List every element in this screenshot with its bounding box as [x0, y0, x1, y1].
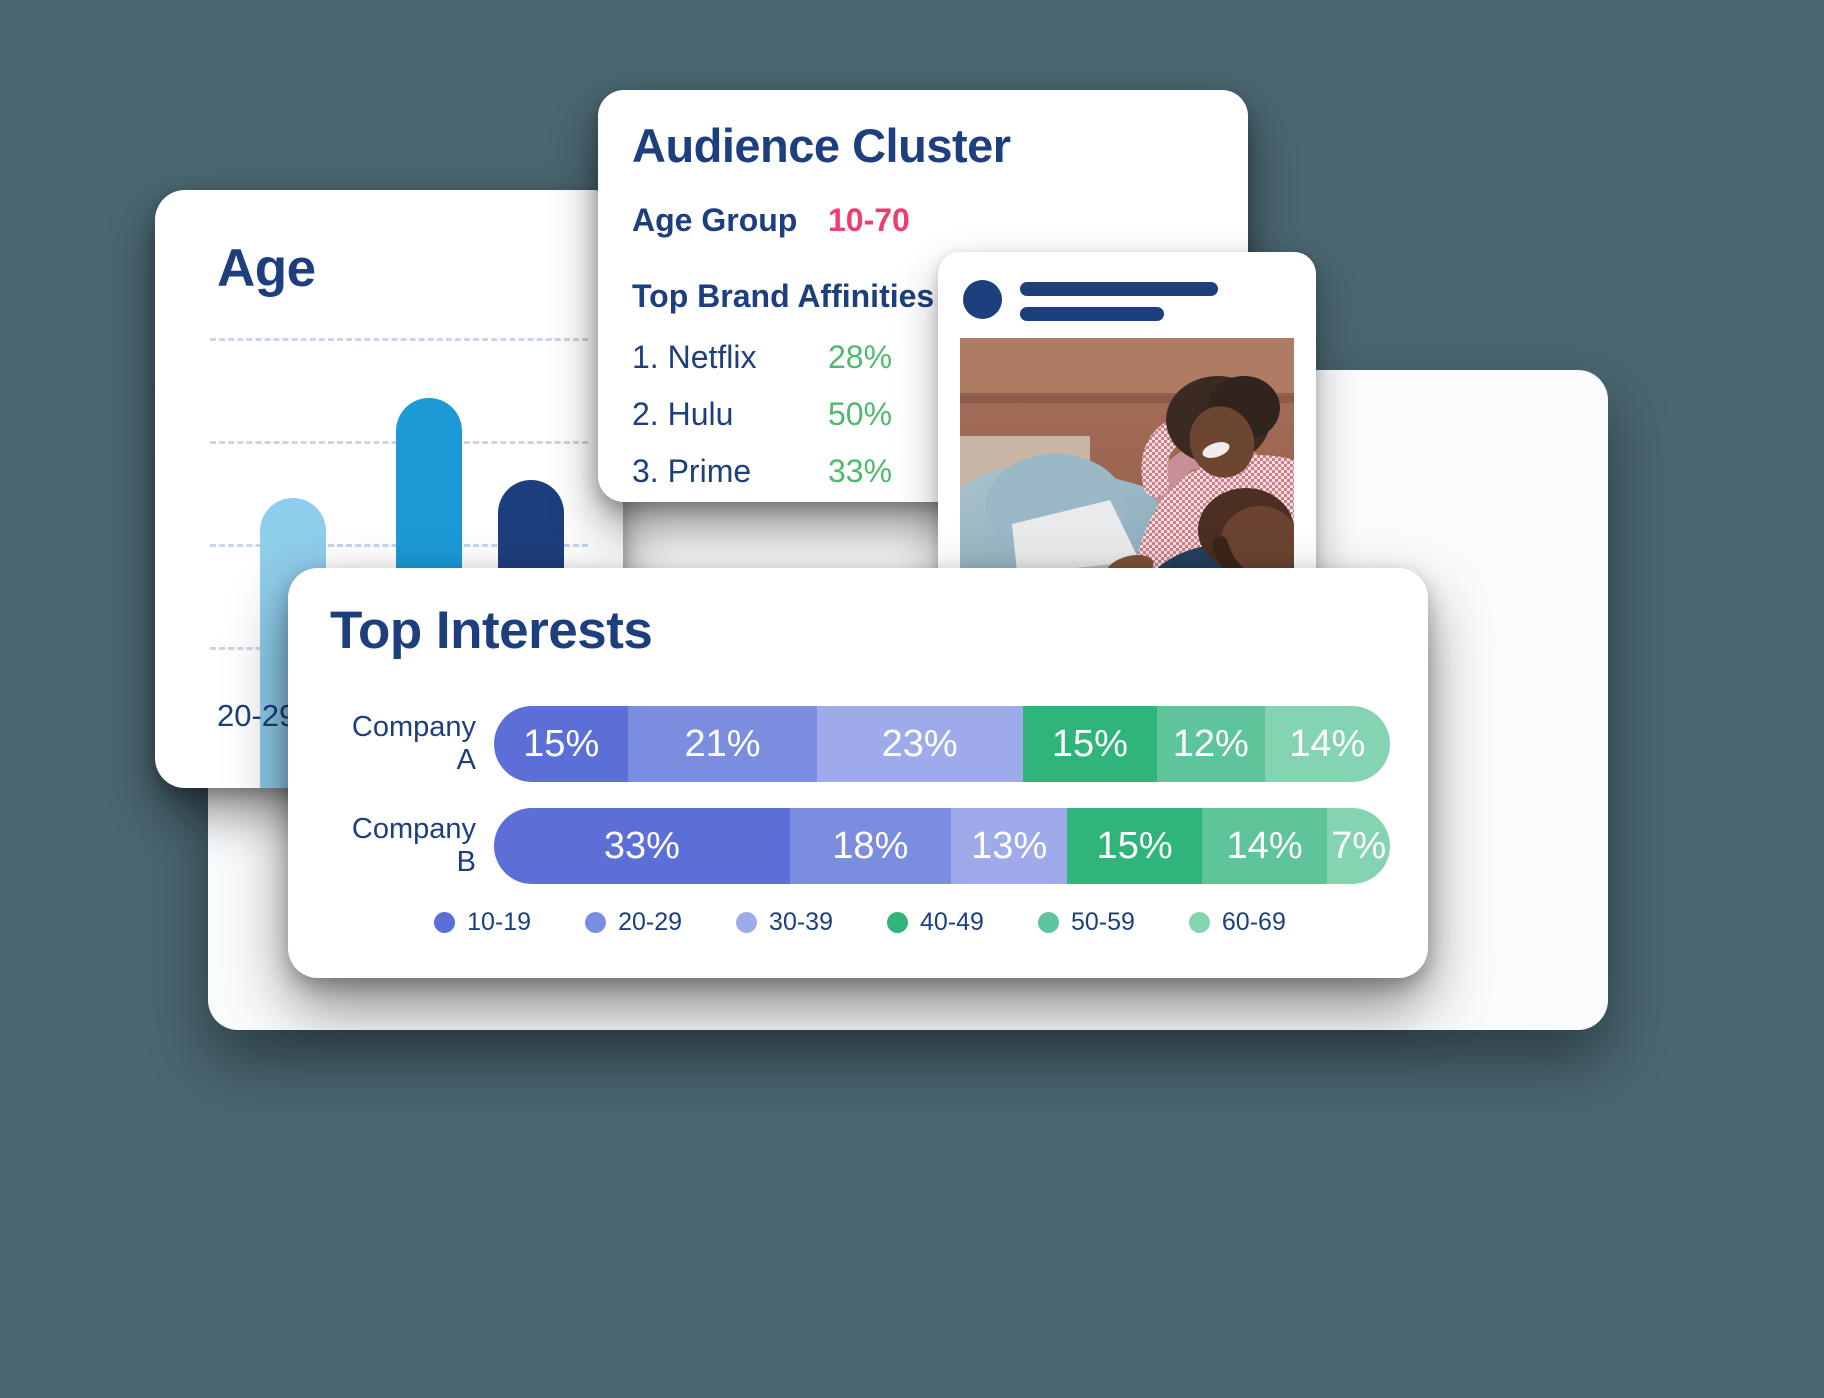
legend-label: 10-19	[467, 908, 531, 937]
legend-item-20-29[interactable]: 20-29	[585, 908, 682, 937]
brand-affinity-row: 3. Prime 33%	[632, 453, 932, 490]
legend-label: 20-29	[618, 908, 682, 937]
audience-cluster-title: Audience Cluster	[632, 118, 1011, 173]
placeholder-text-line-icon	[1020, 282, 1218, 296]
gridline	[210, 338, 588, 341]
brand-percent: 28%	[828, 339, 892, 376]
top-interests-title: Top Interests	[330, 600, 652, 661]
segment-50-59[interactable]: 12%	[1157, 706, 1265, 782]
legend-label: 30-39	[769, 908, 833, 937]
brand-name: 2. Hulu	[632, 396, 828, 433]
age-group-value: 10-70	[828, 202, 910, 239]
legend-item-50-59[interactable]: 50-59	[1038, 908, 1135, 937]
stacked-bar-row-company-a: Company A 15% 21% 23% 15% 12% 14%	[330, 706, 1390, 782]
brand-affinity-row: 2. Hulu 50%	[632, 396, 932, 433]
brand-affinity-row: 1. Netflix 28%	[632, 339, 932, 376]
segment-20-29[interactable]: 18%	[790, 808, 951, 884]
legend-label: 60-69	[1222, 908, 1286, 937]
row-label-company-a: Company A	[330, 711, 494, 777]
brand-name: 3. Prime	[632, 453, 828, 490]
placeholder-text-line-icon	[1020, 307, 1164, 321]
legend-label: 40-49	[920, 908, 984, 937]
segment-10-19[interactable]: 33%	[494, 808, 790, 884]
row-label-company-b: Company B	[330, 813, 494, 879]
segment-30-39[interactable]: 13%	[951, 808, 1067, 884]
brand-percent: 50%	[828, 396, 892, 433]
segment-40-49[interactable]: 15%	[1067, 808, 1201, 884]
stacked-bar-row-company-b: Company B 33% 18% 13% 15% 14% 7%	[330, 808, 1390, 884]
legend-label: 50-59	[1071, 908, 1135, 937]
avatar	[963, 280, 1002, 319]
segment-50-59[interactable]: 14%	[1202, 808, 1327, 884]
age-group-row: Age Group 10-70	[632, 202, 932, 239]
chart-legend: 10-19 20-29 30-39 40-49 50-59 60-69	[330, 908, 1390, 937]
age-axis-tick-label: 20-29	[217, 698, 296, 734]
segment-60-69[interactable]: 7%	[1327, 808, 1390, 884]
age-group-label: Age Group	[632, 202, 828, 239]
dashboard-collage: Age 20-29 Audience Cluster Age Group 10-…	[0, 0, 1824, 1398]
legend-item-40-49[interactable]: 40-49	[887, 908, 984, 937]
top-brand-affinities-heading: Top Brand Affinities	[632, 278, 934, 315]
brand-percent: 33%	[828, 453, 892, 490]
legend-item-30-39[interactable]: 30-39	[736, 908, 833, 937]
segment-60-69[interactable]: 14%	[1265, 706, 1390, 782]
stacked-bar-company-a: 15% 21% 23% 15% 12% 14%	[494, 706, 1390, 782]
segment-30-39[interactable]: 23%	[817, 706, 1023, 782]
legend-item-60-69[interactable]: 60-69	[1189, 908, 1286, 937]
segment-40-49[interactable]: 15%	[1023, 706, 1157, 782]
legend-dot-icon	[736, 912, 757, 933]
legend-dot-icon	[1189, 912, 1210, 933]
brand-name: 1. Netflix	[632, 339, 828, 376]
segment-20-29[interactable]: 21%	[628, 706, 816, 782]
legend-item-10-19[interactable]: 10-19	[434, 908, 531, 937]
legend-dot-icon	[585, 912, 606, 933]
legend-dot-icon	[887, 912, 908, 933]
stacked-bar-company-b: 33% 18% 13% 15% 14% 7%	[494, 808, 1390, 884]
legend-dot-icon	[1038, 912, 1059, 933]
segment-10-19[interactable]: 15%	[494, 706, 628, 782]
top-interests-card: Top Interests Company A 15% 21% 23% 15% …	[288, 568, 1428, 978]
legend-dot-icon	[434, 912, 455, 933]
age-card-title: Age	[217, 238, 316, 299]
